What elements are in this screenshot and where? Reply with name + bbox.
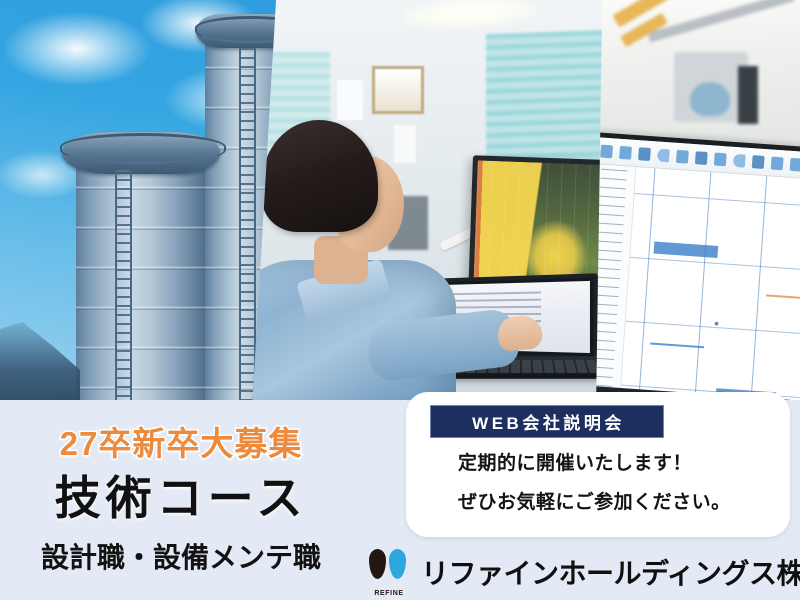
- cad-tool-icon: [790, 157, 800, 171]
- web-seminar-badge: WEB会社説明会: [430, 405, 664, 438]
- wall-picture-frame: [372, 66, 424, 114]
- headline-main: 技術コース: [0, 462, 362, 528]
- company-row: REFINE リファインホールディングス株式会社: [366, 545, 800, 599]
- silo-tower-left: [76, 150, 206, 401]
- wall-document-left: [337, 80, 363, 120]
- logo-wordmark: REFINE: [366, 590, 412, 597]
- engineer-person: [252, 120, 460, 401]
- info-line-2: ぜひお気軽にご参加ください。: [458, 487, 731, 514]
- cad-tool-icon: [695, 151, 708, 165]
- cad-screen-photo: [596, 0, 800, 401]
- headline-sub: 設計職・設備メンテ職: [0, 536, 362, 576]
- droplet-dark-icon: [369, 549, 386, 579]
- cad-blueprint-canvas: [620, 167, 800, 401]
- industrial-plant-photo: [0, 0, 280, 401]
- refine-logo-icon: REFINE: [366, 547, 412, 597]
- cad-display: [596, 132, 800, 401]
- cad-tool-icon: [600, 144, 613, 158]
- info-panel: WEB会社説明会 定期的に開催いたします！ ぜひお気軽にご参加ください。: [406, 392, 790, 537]
- silo-ladder-left: [115, 170, 132, 401]
- factory-background: [596, 0, 800, 150]
- ceiling-light: [401, 0, 539, 33]
- engineer-office-photo: [252, 0, 604, 401]
- cad-tool-icon: [752, 155, 765, 169]
- droplet-blue-icon: [389, 549, 406, 579]
- engineer-hair: [262, 120, 378, 232]
- cad-tool-icon: [619, 145, 632, 159]
- silo-ladder-right: [239, 48, 256, 401]
- bottom-band: 27卒新卒大募集 技術コース 設計職・設備メンテ職 WEB会社説明会 定期的に開…: [0, 400, 800, 600]
- cad-tool-icon: [733, 153, 746, 167]
- plant-pipework: [0, 308, 80, 401]
- info-line-1: 定期的に開催いたします！: [458, 448, 692, 475]
- cad-tool-icon: [657, 148, 670, 162]
- cad-tool-icon: [638, 147, 651, 161]
- cad-tool-icon: [771, 156, 784, 170]
- company-name: リファインホールディングス株式会社: [421, 552, 800, 592]
- cad-tool-icon: [676, 149, 689, 163]
- left-copy-block: 27卒新卒大募集 技術コース 設計職・設備メンテ職: [0, 400, 362, 600]
- cad-tool-icon: [714, 152, 727, 166]
- photo-strip: [0, 0, 800, 401]
- headline-orange: 27卒新卒大募集: [0, 417, 362, 465]
- web-seminar-badge-label: WEB会社説明会: [469, 409, 625, 434]
- silo-railing-left: [60, 133, 226, 164]
- recruitment-banner: 27卒新卒大募集 技術コース 設計職・設備メンテ職 WEB会社説明会 定期的に開…: [0, 0, 800, 600]
